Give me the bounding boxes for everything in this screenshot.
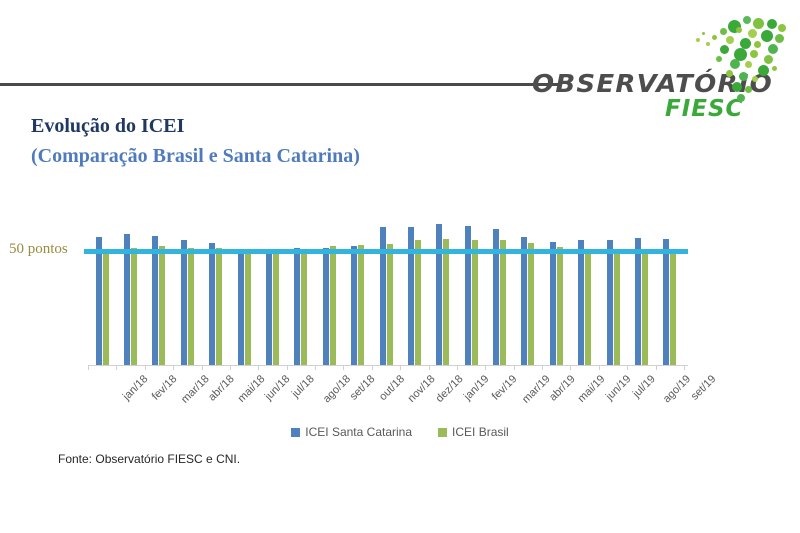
x-axis-tick [542,365,543,370]
bar-icei-santa-catarina [323,248,329,365]
bar-icei-brasil [642,249,648,365]
bar-icei-brasil [415,240,421,365]
x-axis-tick [570,365,571,370]
bar-group [578,205,591,365]
bar-group [607,205,620,365]
x-axis-tick [514,365,515,370]
bar-group [663,205,676,365]
x-axis-label: jul/18 [290,373,317,400]
x-axis-tick [315,365,316,370]
x-axis-label: mai/19 [576,373,608,405]
x-axis-label: jan/19 [462,373,492,403]
x-axis-tick [684,365,685,370]
chart-title-block: Evolução do ICEI (Comparação Brasil e Sa… [31,114,360,169]
x-axis-tick [343,365,344,370]
bar-icei-brasil [500,240,506,365]
bar-group [521,205,534,365]
bar-group [465,205,478,365]
bar-icei-santa-catarina [152,236,158,365]
bar-icei-santa-catarina [266,253,272,365]
bar-group [124,205,137,365]
observatorio-fiesc-logo: OBSERVATÓRIO FIESC [522,14,792,114]
x-axis-label: nov/18 [406,373,438,405]
bar-group [181,205,194,365]
legend-label: ICEI Brasil [452,425,509,439]
chart-plot-area [88,205,684,365]
bar-group [323,205,336,365]
x-axis-tick [287,365,288,370]
bar-group [294,205,307,365]
x-axis-tick [485,365,486,370]
bar-group [408,205,421,365]
x-axis-tick [202,365,203,370]
bar-icei-brasil [670,252,676,365]
brazil-dots-map-icon [682,14,790,109]
bar-group [380,205,393,365]
bar-group [351,205,364,365]
x-axis-label: jun/18 [263,373,293,403]
x-axis-tick [258,365,259,370]
x-axis-label: mai/18 [235,373,267,405]
bar-icei-santa-catarina [380,227,386,365]
bar-icei-santa-catarina [209,243,215,365]
x-axis-label: set/18 [348,373,378,403]
x-axis-label: abr/18 [206,373,237,404]
legend-swatch-icon [438,428,447,437]
bar-icei-brasil [358,245,364,365]
legend-item[interactable]: ICEI Santa Catarina [291,425,412,439]
bar-group [635,205,648,365]
bar-group [96,205,109,365]
x-axis-tick [599,365,600,370]
bar-group [238,205,251,365]
bar-group [550,205,563,365]
legend-item[interactable]: ICEI Brasil [438,425,509,439]
bar-icei-brasil [557,247,563,365]
bar-icei-santa-catarina [607,240,613,365]
bar-icei-santa-catarina [124,234,130,365]
bar-icei-brasil [131,248,137,365]
bar-icei-brasil [472,240,478,365]
x-axis-label: jun/19 [603,373,633,403]
bar-icei-brasil [614,251,620,365]
x-axis-tick [656,365,657,370]
x-axis-label: mar/18 [179,373,212,406]
bar-group [209,205,222,365]
x-axis-label: out/18 [377,373,407,403]
bar-icei-santa-catarina [663,239,669,365]
x-axis-label: jul/19 [631,373,658,400]
x-axis-tick [173,365,174,370]
x-axis-tick [372,365,373,370]
x-axis-label: mar/19 [520,373,553,406]
x-axis-label: fev/18 [149,373,179,403]
x-axis-tick [230,365,231,370]
bar-icei-santa-catarina [465,226,471,365]
x-axis-tick [145,365,146,370]
bar-group [152,205,165,365]
bar-icei-santa-catarina [181,240,187,365]
chart-legend: ICEI Santa CatarinaICEI Brasil [0,425,800,439]
x-axis-label: set/19 [689,373,719,403]
chart-title-secondary: (Comparação Brasil e Santa Catarina) [31,144,360,169]
x-axis-tick [400,365,401,370]
x-axis-label: ago/18 [321,373,353,405]
x-axis-label: jan/18 [121,373,151,403]
bar-icei-brasil [273,252,279,365]
page-header: OBSERVATÓRIO FIESC [0,0,800,112]
bar-icei-brasil [301,250,307,365]
bar-icei-brasil [245,250,251,365]
bar-icei-santa-catarina [238,253,244,365]
bar-group [436,205,449,365]
x-axis-label: fev/19 [490,373,520,403]
bar-icei-santa-catarina [521,237,527,365]
bar-icei-brasil [387,244,393,365]
bar-icei-santa-catarina [436,224,442,365]
bar-icei-santa-catarina [578,240,584,365]
bar-icei-brasil [216,248,222,365]
bar-icei-brasil [188,248,194,365]
bar-icei-brasil [159,246,165,365]
x-axis-tick [116,365,117,370]
x-axis-tick [429,365,430,370]
bar-icei-brasil [528,243,534,365]
source-note: Fonte: Observatório FIESC e CNI. [58,452,240,466]
legend-label: ICEI Santa Catarina [305,425,412,439]
x-axis-tick [88,365,89,370]
bar-icei-brasil [330,246,336,365]
reference-line-label: 50 pontos [9,241,68,258]
reference-line-50 [84,249,688,254]
x-axis-label: ago/19 [661,373,693,405]
chart-title-primary: Evolução do ICEI [31,114,360,139]
bar-icei-santa-catarina [635,238,641,365]
x-axis-tick [627,365,628,370]
bar-icei-brasil [585,251,591,365]
legend-swatch-icon [291,428,300,437]
header-divider-rule [0,83,560,86]
bar-icei-santa-catarina [294,248,300,365]
bar-group [493,205,506,365]
x-axis-label: abr/19 [547,373,578,404]
x-axis-tick [457,365,458,370]
x-axis-label: dez/18 [434,373,466,405]
bar-icei-santa-catarina [351,246,357,365]
bar-icei-brasil [443,239,449,365]
bar-group [266,205,279,365]
bar-icei-santa-catarina [96,237,102,365]
bar-icei-santa-catarina [550,242,556,365]
bar-icei-brasil [103,251,109,365]
